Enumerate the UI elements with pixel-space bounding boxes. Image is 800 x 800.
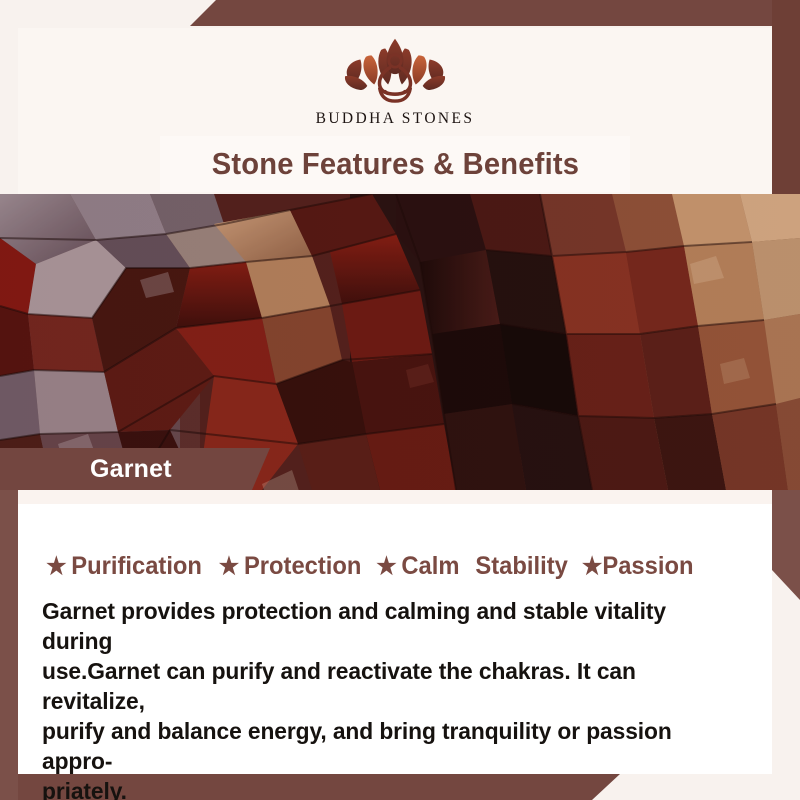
star-icon: ★ xyxy=(582,555,602,579)
content-panel: ★ Purification ★ Protection ★ Calm Stabi… xyxy=(18,504,772,774)
stone-description: Garnet provides protection and calming a… xyxy=(42,596,737,800)
brand-header: BUDDHA STONES xyxy=(18,28,772,138)
brand-name: BUDDHA STONES xyxy=(316,110,475,128)
description-line: priately. xyxy=(42,776,737,800)
frame-top-bar xyxy=(0,0,800,26)
stone-name-banner: Garnet xyxy=(0,448,270,490)
benefit-item: Stability xyxy=(475,552,567,581)
description-line: use.Garnet can purify and reactivate the… xyxy=(42,656,737,716)
benefit-label: Stability xyxy=(475,552,567,581)
benefit-label: Calm xyxy=(402,552,460,581)
star-icon: ★ xyxy=(219,555,239,579)
benefit-label: Purification xyxy=(71,552,202,581)
description-line: Garnet provides protection and calming a… xyxy=(42,596,737,656)
benefit-item: ★ Protection xyxy=(219,552,362,581)
benefit-label: Protection xyxy=(244,552,361,581)
content-divider-strip xyxy=(18,490,772,504)
stone-photo xyxy=(0,194,800,490)
description-line: purify and balance energy, and bring tra… xyxy=(42,716,737,776)
benefit-list: ★ Purification ★ Protection ★ Calm Stabi… xyxy=(42,552,758,581)
stone-name: Garnet xyxy=(90,455,172,484)
benefit-item: ★ Purification xyxy=(46,552,202,581)
benefit-label: Passion xyxy=(602,552,693,581)
poster-card: BUDDHA STONES Stone Features & Benefits xyxy=(18,28,772,774)
benefit-item: ★ Calm xyxy=(376,552,459,581)
star-icon: ★ xyxy=(46,555,66,579)
poster-root: BUDDHA STONES Stone Features & Benefits xyxy=(0,0,800,800)
benefit-item: ★ Passion xyxy=(582,552,694,581)
page-title: Stone Features & Benefits xyxy=(211,146,578,182)
lotus-meditation-icon xyxy=(339,36,451,108)
star-icon: ★ xyxy=(376,555,396,579)
title-band: Stone Features & Benefits xyxy=(160,136,630,192)
